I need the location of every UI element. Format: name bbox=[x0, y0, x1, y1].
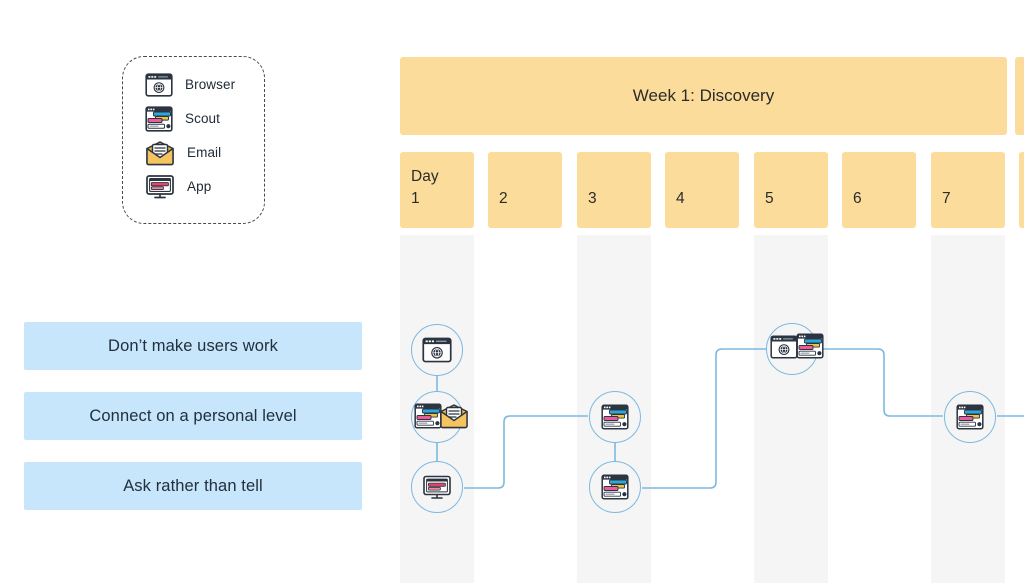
day-column-2[interactable]: 2 bbox=[488, 152, 562, 583]
day-spacer-5 bbox=[765, 166, 828, 188]
day-word-label: Day bbox=[411, 166, 474, 188]
day-header-2: 2 bbox=[488, 152, 562, 228]
day-number-1: 1 bbox=[411, 188, 474, 210]
day-header-3: 3 bbox=[577, 152, 651, 228]
timeline-node-day5-browser-scout[interactable] bbox=[766, 323, 818, 375]
day-number-6: 6 bbox=[853, 188, 916, 210]
day-strip-5 bbox=[754, 235, 828, 583]
scout-chat-icon bbox=[414, 403, 442, 429]
day-strip-4 bbox=[665, 235, 739, 583]
scout-chat-icon bbox=[956, 404, 984, 430]
scout-chat-icon bbox=[601, 404, 629, 430]
scout-chat-icon bbox=[796, 333, 824, 359]
day-spacer-4 bbox=[676, 166, 739, 188]
principles-list: Don’t make users work Connect on a perso… bbox=[24, 322, 362, 510]
day-header-6: 6 bbox=[842, 152, 916, 228]
day-number-5: 5 bbox=[765, 188, 828, 210]
timeline-node-day3-scout-a[interactable] bbox=[589, 391, 641, 443]
day-header-8 bbox=[1019, 152, 1024, 228]
timeline-node-day1-app[interactable] bbox=[411, 461, 463, 513]
day-number-4: 4 bbox=[676, 188, 739, 210]
day-spacer-7 bbox=[942, 166, 1005, 188]
day-number-7: 7 bbox=[942, 188, 1005, 210]
day-header-5: 5 bbox=[754, 152, 828, 228]
legend-label-browser: Browser bbox=[185, 78, 235, 92]
day-header-1: Day 1 bbox=[400, 152, 474, 228]
legend-item-scout: Scout bbox=[145, 105, 235, 133]
browser-icon bbox=[145, 73, 173, 97]
day-column-6[interactable]: 6 bbox=[842, 152, 916, 583]
principle-card-3: Ask rather than tell bbox=[24, 462, 362, 510]
day-header-7: 7 bbox=[931, 152, 1005, 228]
day-spacer-3 bbox=[588, 166, 651, 188]
day-columns: Day 1 2 3 bbox=[400, 0, 1024, 576]
timeline-node-day3-scout-b[interactable] bbox=[589, 461, 641, 513]
timeline-node-day1-scout-email[interactable] bbox=[411, 391, 463, 443]
app-monitor-icon bbox=[422, 474, 452, 501]
principle-card-1: Don’t make users work bbox=[24, 322, 362, 370]
legend-item-browser: Browser bbox=[145, 71, 235, 99]
day-column-7[interactable]: 7 bbox=[931, 152, 1005, 583]
principle-card-2: Connect on a personal level bbox=[24, 392, 362, 440]
day-strip-2 bbox=[488, 235, 562, 583]
slide-canvas: Browser bbox=[0, 0, 1024, 576]
browser-icon bbox=[422, 337, 452, 363]
email-envelope-icon bbox=[439, 403, 469, 429]
day-strip-6 bbox=[842, 235, 916, 583]
app-monitor-icon bbox=[145, 174, 175, 200]
scout-chat-icon bbox=[145, 106, 173, 132]
legend-list: Browser bbox=[145, 71, 235, 201]
legend-item-app: App bbox=[145, 173, 235, 201]
timeline-panel: Week 1: Discovery Day 1 2 bbox=[400, 0, 1024, 576]
day-spacer-2 bbox=[499, 166, 562, 188]
timeline-node-day7-scout[interactable] bbox=[944, 391, 996, 443]
email-envelope-icon bbox=[145, 140, 175, 166]
day-strip-8 bbox=[1019, 235, 1024, 583]
scout-chat-icon bbox=[601, 474, 629, 500]
day-header-4: 4 bbox=[665, 152, 739, 228]
timeline-node-day1-browser[interactable] bbox=[411, 324, 463, 376]
day-column-3[interactable]: 3 bbox=[577, 152, 651, 583]
day-number-3: 3 bbox=[588, 188, 651, 210]
day-column-8-partial[interactable] bbox=[1019, 152, 1024, 583]
legend-label-scout: Scout bbox=[185, 112, 220, 126]
day-column-4[interactable]: 4 bbox=[665, 152, 739, 583]
day-number-2: 2 bbox=[499, 188, 562, 210]
legend-item-email: Email bbox=[145, 139, 235, 167]
legend-label-email: Email bbox=[187, 146, 221, 160]
channel-legend: Browser bbox=[122, 56, 265, 224]
legend-label-app: App bbox=[187, 180, 211, 194]
browser-icon bbox=[770, 335, 798, 359]
day-spacer-6 bbox=[853, 166, 916, 188]
